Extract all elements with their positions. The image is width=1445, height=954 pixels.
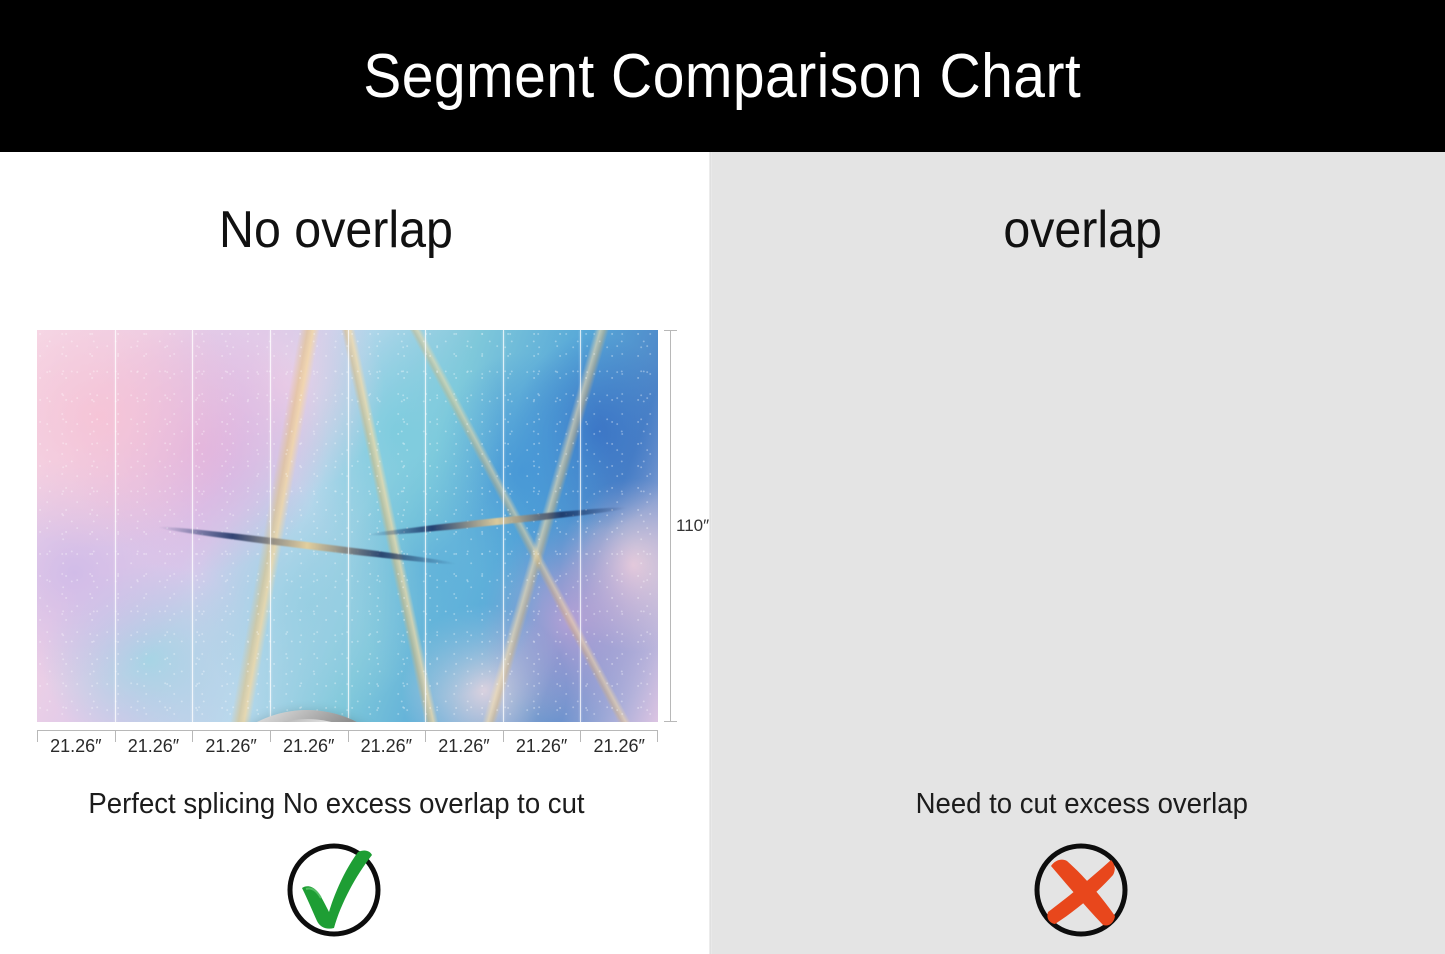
panel-seam bbox=[425, 330, 426, 722]
panel-divider bbox=[709, 152, 712, 954]
panel-seam bbox=[192, 330, 193, 722]
segment-label: 21.26″ bbox=[115, 736, 193, 757]
panel-no-overlap: No overlap bbox=[0, 152, 711, 954]
caption-right: Need to cut excess overlap bbox=[729, 788, 1426, 821]
panel-seam bbox=[270, 330, 271, 722]
panel-seam bbox=[580, 330, 581, 722]
title-bar: Segment Comparison Chart bbox=[0, 0, 1445, 152]
segment-label: 21.26″ bbox=[37, 736, 115, 757]
caption-left: Perfect splicing No excess overlap to cu… bbox=[18, 788, 693, 821]
height-label-left: 110″ bbox=[676, 516, 709, 536]
panel-heading-left: No overlap bbox=[25, 200, 686, 260]
panel-seam bbox=[503, 330, 504, 722]
cross-icon bbox=[1029, 838, 1133, 942]
panels-container: No overlap bbox=[0, 152, 1445, 954]
verdict-right bbox=[711, 838, 1445, 942]
comparison-chart-page: Segment Comparison Chart No overlap bbox=[0, 0, 1445, 954]
segment-labels-left: 21.26″ 21.26″ 21.26″ 21.26″ 21.26″ 21.26… bbox=[37, 736, 658, 757]
panel-overlap: overlap bbox=[711, 152, 1445, 954]
page-title: Segment Comparison Chart bbox=[363, 41, 1081, 112]
segment-label: 21.26″ bbox=[503, 736, 581, 757]
mural-image-left bbox=[37, 330, 658, 722]
segment-label: 21.26″ bbox=[192, 736, 270, 757]
verdict-left bbox=[0, 838, 711, 942]
segment-label: 21.26″ bbox=[348, 736, 426, 757]
check-icon bbox=[282, 838, 386, 942]
segment-scale-left: 21.26″ 21.26″ 21.26″ 21.26″ 21.26″ 21.26… bbox=[37, 730, 658, 760]
segment-label: 21.26″ bbox=[270, 736, 348, 757]
panel-seam bbox=[115, 330, 116, 722]
segment-label: 21.26″ bbox=[580, 736, 658, 757]
segment-label: 21.26″ bbox=[425, 736, 503, 757]
panel-seam bbox=[348, 330, 349, 722]
panel-heading-right: overlap bbox=[737, 200, 1420, 260]
